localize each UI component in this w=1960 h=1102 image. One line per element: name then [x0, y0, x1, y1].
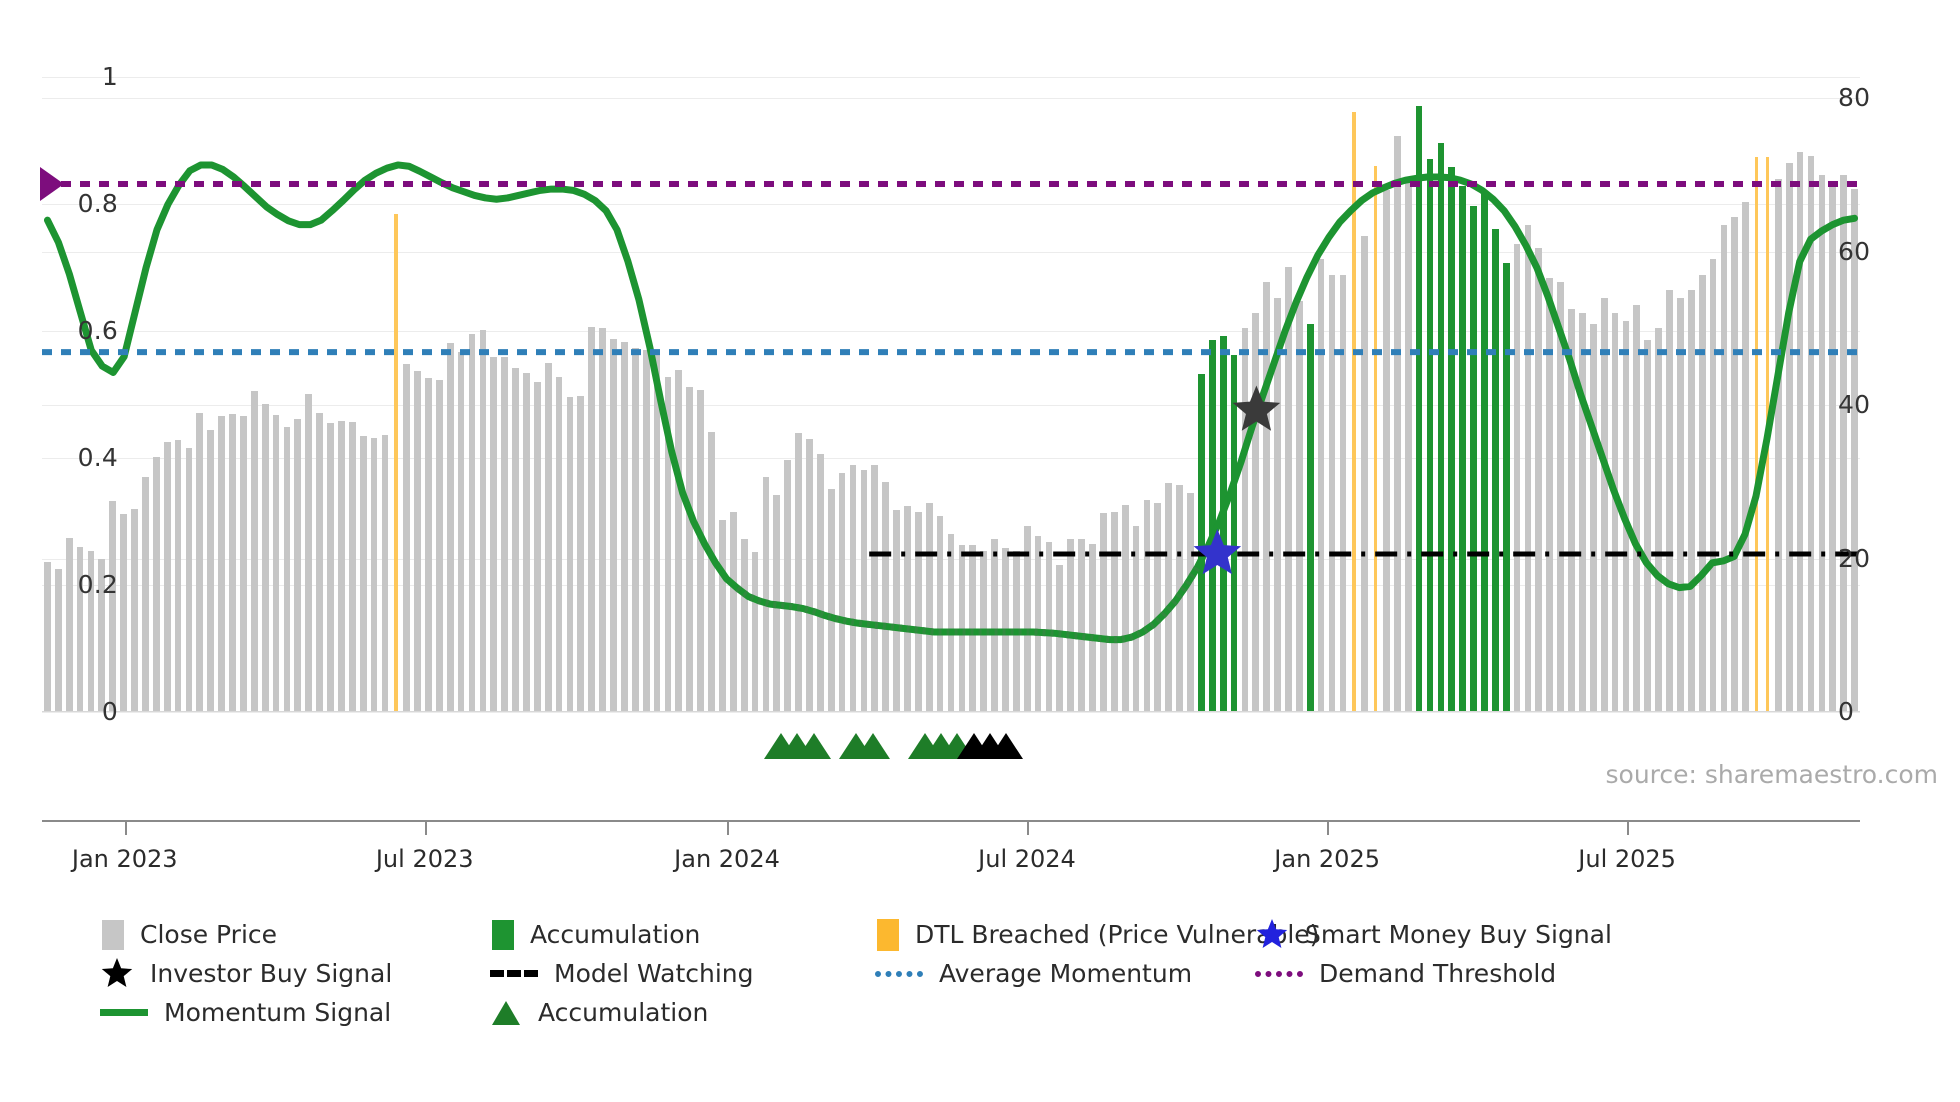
- model-watching-line-icon: [490, 970, 538, 977]
- x-axis-tick-label: Jan 2023: [72, 845, 178, 873]
- y-axis-left-tick: 0.4: [0, 445, 118, 470]
- x-axis-tick-mark: [1027, 822, 1029, 835]
- chart-page: 10.80.60.40.20 806040200 Jan 2023Jul 202…: [0, 0, 1960, 1102]
- plot-area: [42, 52, 1860, 712]
- gridline: [42, 712, 1860, 713]
- y-axis-right-tick: 60: [1838, 239, 1958, 264]
- accumulation-triangle-icon: [490, 999, 522, 1027]
- legend-item-smart-money-buy-signal[interactable]: Smart Money Buy Signal: [1255, 915, 1612, 954]
- accumulation-triangle-marker: [989, 733, 1023, 759]
- x-axis-tick-label: Jan 2025: [1274, 845, 1380, 873]
- legend-item-label: Smart Money Buy Signal: [1305, 920, 1612, 949]
- average-momentum-line-icon: [875, 971, 923, 977]
- y-axis-left-tick: 0.2: [0, 572, 118, 597]
- y-axis-right-tick: 80: [1838, 85, 1958, 110]
- demand-threshold-line-icon: [1255, 971, 1303, 977]
- x-axis-line: [42, 820, 1860, 822]
- smart-money-star-icon: [1255, 918, 1289, 952]
- x-axis-tick-mark: [1327, 822, 1329, 835]
- legend-item-accumulation[interactable]: Accumulation: [490, 993, 708, 1032]
- accumulation-swatch-icon: [492, 920, 514, 950]
- x-axis-tick-label: Jul 2023: [376, 845, 474, 873]
- legend-item-average-momentum[interactable]: Average Momentum: [875, 954, 1192, 993]
- x-axis-tick-mark: [125, 822, 127, 835]
- y-axis-left-tick: 0.8: [0, 191, 118, 216]
- legend-item-label: Model Watching: [554, 959, 754, 988]
- legend-item-label: Demand Threshold: [1319, 959, 1556, 988]
- legend-item-dtl-breached-price-vulnerable[interactable]: DTL Breached (Price Vulnerable): [875, 915, 1319, 954]
- legend-item-label: Momentum Signal: [164, 998, 391, 1027]
- legend-item-label: Average Momentum: [939, 959, 1192, 988]
- legend-item-accumulation[interactable]: Accumulation: [490, 915, 700, 954]
- x-axis-tick-label: Jan 2024: [674, 845, 780, 873]
- legend-row: Momentum SignalAccumulation: [100, 993, 1900, 1032]
- investor-buy-star-icon: [100, 957, 134, 991]
- chart-legend: Close PriceAccumulationDTL Breached (Pri…: [100, 915, 1900, 1032]
- legend-row: Close PriceAccumulationDTL Breached (Pri…: [100, 915, 1900, 954]
- legend-item-demand-threshold[interactable]: Demand Threshold: [1255, 954, 1556, 993]
- smart-money-buy-signal-marker: [1194, 529, 1242, 574]
- legend-item-label: Accumulation: [538, 998, 708, 1027]
- accumulation-triangle-marker: [797, 733, 831, 759]
- plot-inner: [42, 52, 1860, 712]
- x-axis-tick-mark: [425, 822, 427, 835]
- investor-buy-signal-marker: [1233, 386, 1281, 431]
- y-axis-left-tick: 1: [0, 64, 118, 89]
- legend-item-label: Investor Buy Signal: [150, 959, 392, 988]
- x-axis-tick-label: Jul 2025: [1578, 845, 1676, 873]
- x-axis-tick-mark: [727, 822, 729, 835]
- legend-row: Investor Buy SignalModel WatchingAverage…: [100, 954, 1900, 993]
- legend-item-model-watching[interactable]: Model Watching: [490, 954, 754, 993]
- y-axis-right-tick: 20: [1838, 546, 1958, 571]
- momentum-line-icon: [100, 1009, 148, 1016]
- accumulation-marker-row: [42, 715, 1860, 775]
- x-axis-tick-mark: [1627, 822, 1629, 835]
- x-axis-tick-label: Jul 2024: [978, 845, 1076, 873]
- legend-item-momentum-signal[interactable]: Momentum Signal: [100, 993, 391, 1032]
- legend-item-close-price[interactable]: Close Price: [100, 915, 277, 954]
- legend-item-label: Close Price: [140, 920, 277, 949]
- legend-item-investor-buy-signal[interactable]: Investor Buy Signal: [100, 954, 392, 993]
- y-axis-left-tick: 0.6: [0, 318, 118, 343]
- close-price-swatch-icon: [102, 920, 124, 950]
- legend-item-label: Accumulation: [530, 920, 700, 949]
- dtl-breached-swatch-icon: [877, 919, 899, 951]
- plot-baseline: [42, 711, 1860, 712]
- marker-overlay: [42, 52, 1860, 712]
- y-axis-right-tick: 40: [1838, 392, 1958, 417]
- accumulation-triangle-marker: [856, 733, 890, 759]
- source-note: source: sharemaestro.com: [1606, 760, 1939, 789]
